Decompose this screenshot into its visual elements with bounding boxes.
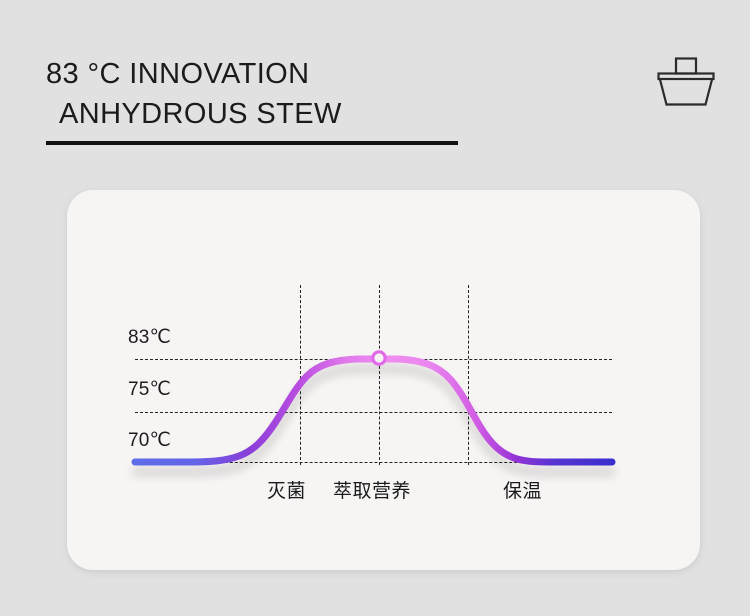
gridline-70 xyxy=(135,462,612,463)
temperature-chart: 83℃ 75℃ 70℃ xyxy=(67,190,700,570)
curve-path xyxy=(135,359,612,462)
ytick-label-70: 70℃ xyxy=(128,429,171,452)
stew-pot-icon xyxy=(655,57,717,107)
gridline-vertical-2 xyxy=(379,285,380,465)
ytick-label-83: 83℃ xyxy=(128,326,171,349)
gridline-vertical-3 xyxy=(468,285,469,465)
title-line-1: 83 °C INNOVATION xyxy=(46,54,606,94)
gridline-75 xyxy=(135,412,612,413)
xtick-label-keep-warm: 保温 xyxy=(503,476,542,503)
xtick-label-sterilize: 灭菌 xyxy=(267,476,306,503)
title-line-2: ANHYDROUS STEW xyxy=(46,94,606,134)
page-title: 83 °C INNOVATION ANHYDROUS STEW xyxy=(46,54,606,134)
page-root: 83 °C INNOVATION ANHYDROUS STEW xyxy=(0,0,750,616)
curve-shadow xyxy=(135,359,612,462)
xtick-label-extract-nutrition: 萃取营养 xyxy=(333,476,411,503)
header: 83 °C INNOVATION ANHYDROUS STEW xyxy=(0,0,750,170)
gridline-vertical-1 xyxy=(300,285,301,465)
gridline-83 xyxy=(135,359,612,360)
title-underline xyxy=(46,141,458,145)
chart-card: 83℃ 75℃ 70℃ xyxy=(67,190,700,570)
ytick-label-75: 75℃ xyxy=(128,378,171,401)
